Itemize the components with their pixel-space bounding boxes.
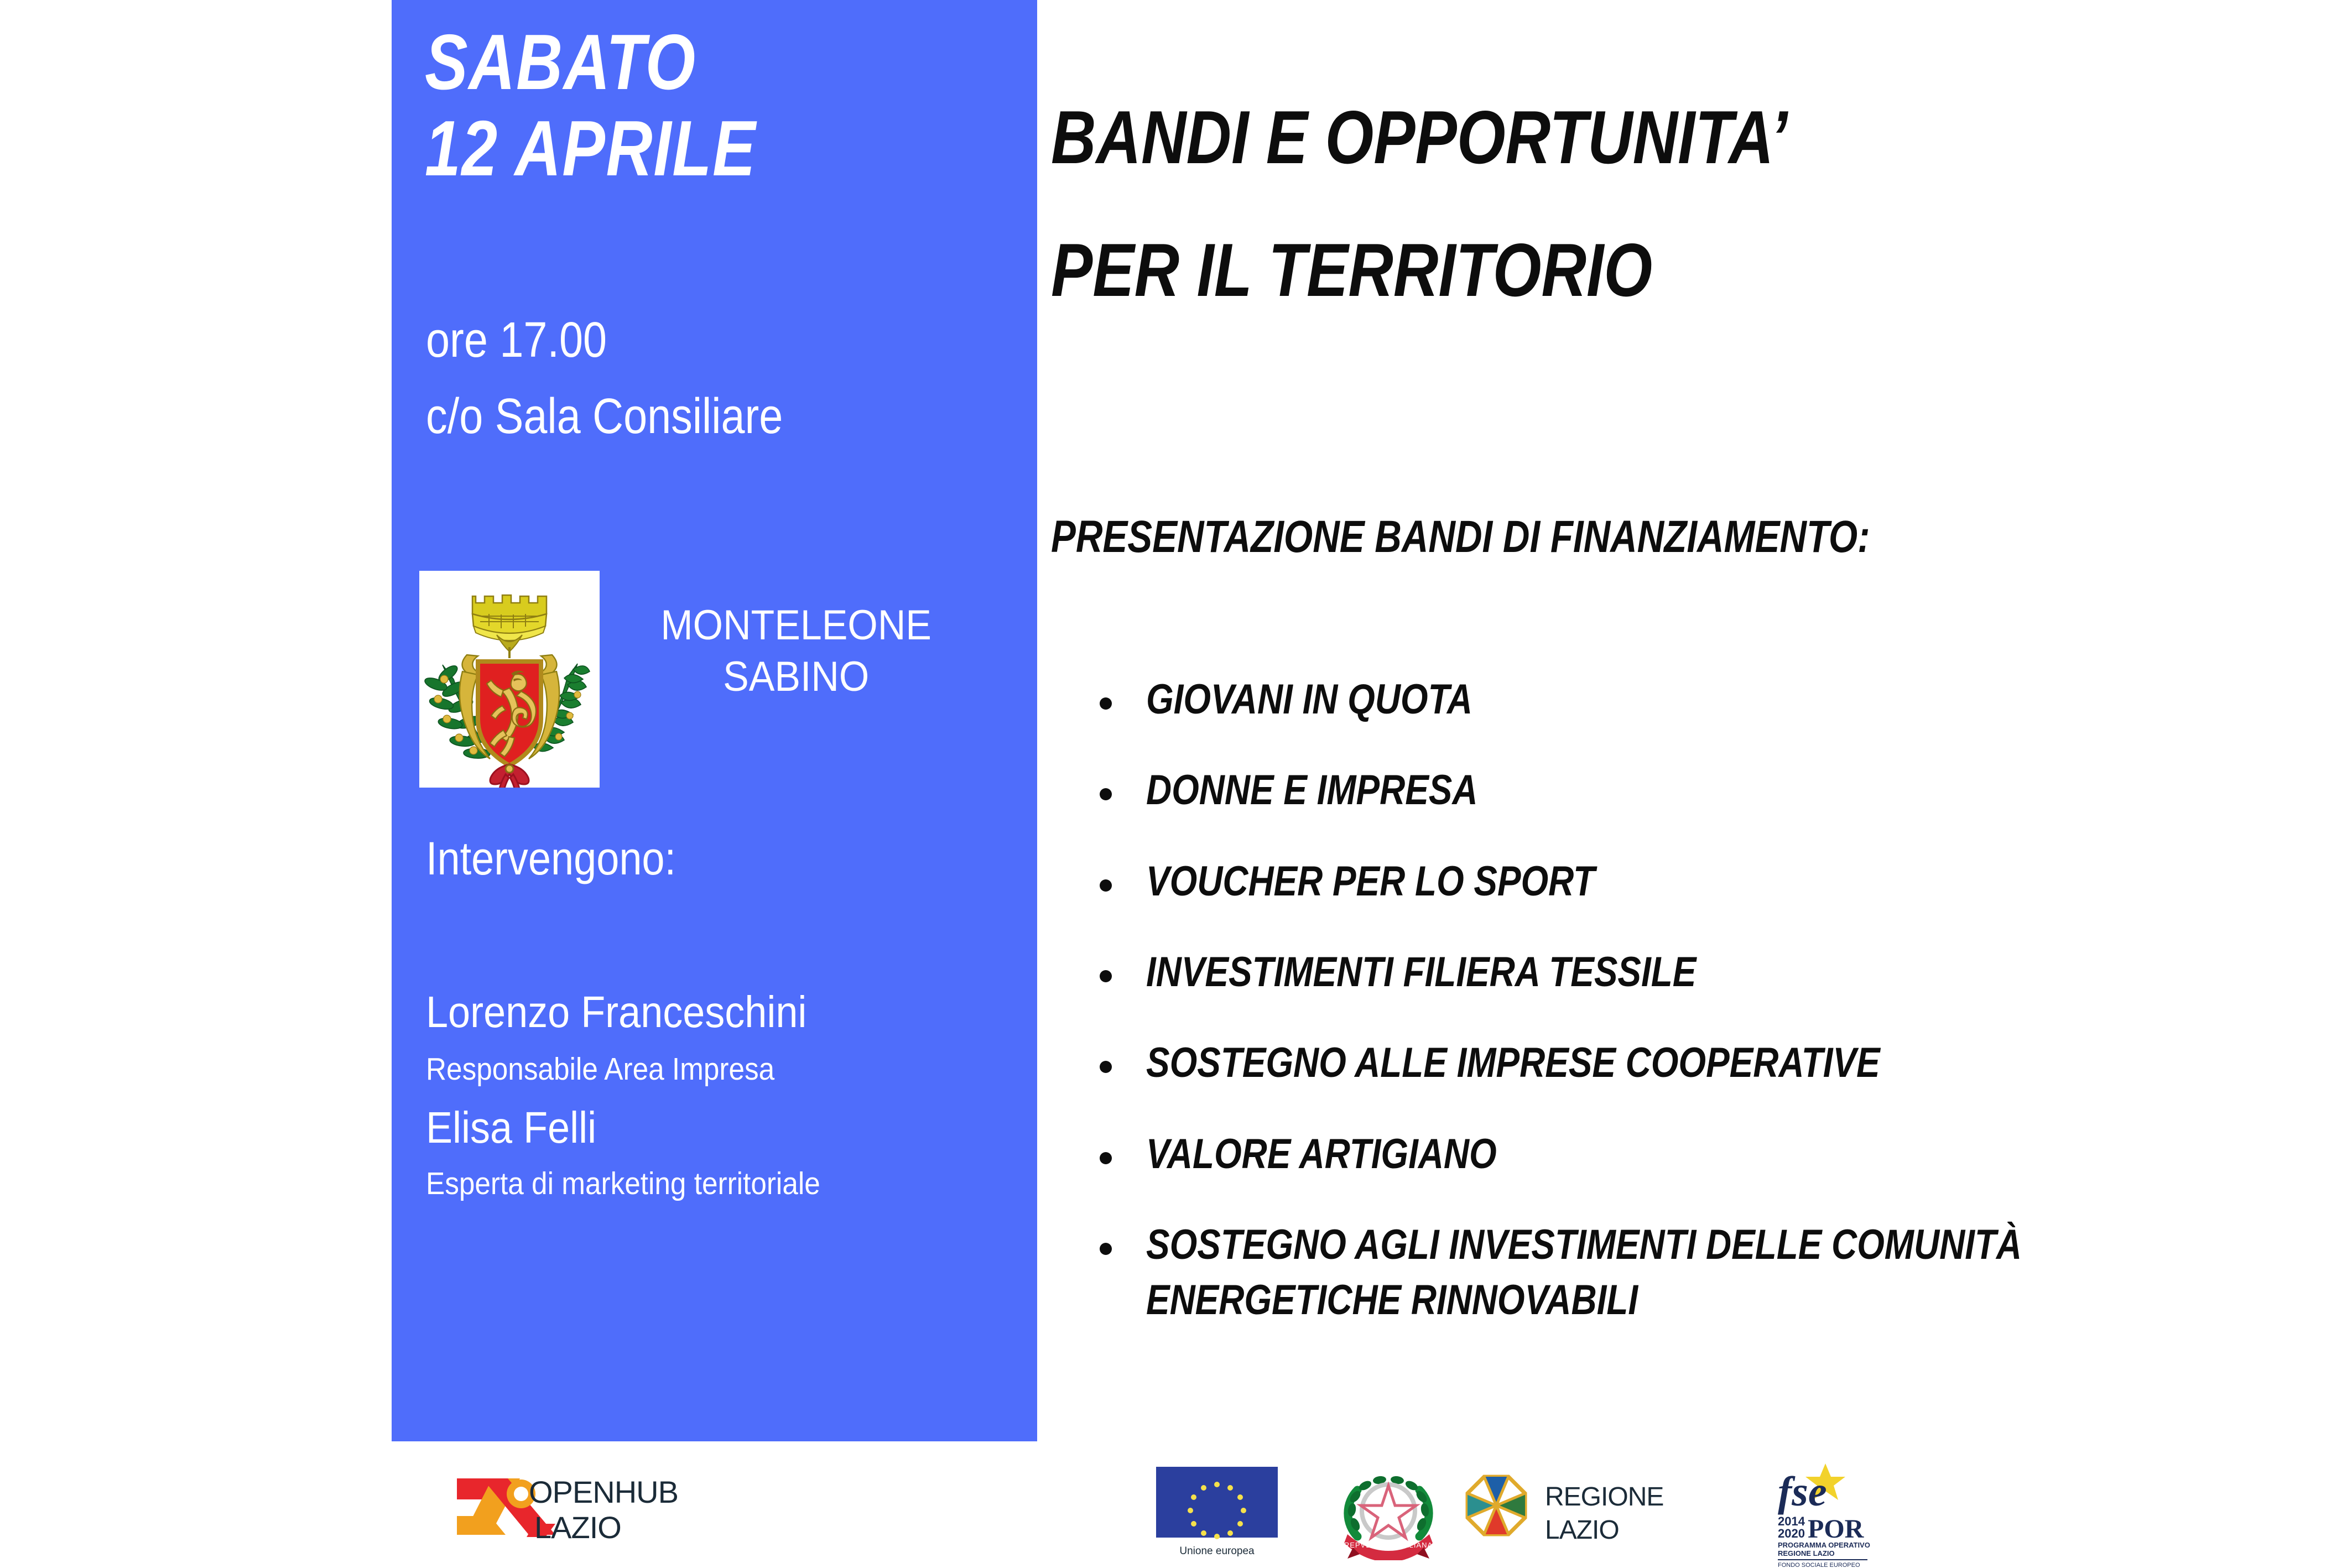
svg-text:fse: fse	[1778, 1468, 1827, 1515]
european-union-logo: Unione europea	[1156, 1467, 1278, 1561]
event-time: ore 17.00	[426, 315, 607, 365]
regione-lazio-logo-icon: REGIONE LAZIO	[1463, 1471, 1729, 1549]
svg-text:FONDO SOCIALE EUROPEO: FONDO SOCIALE EUROPEO	[1778, 1562, 1860, 1568]
town-crest	[419, 571, 600, 788]
fse-por-logo-icon: fse 2014 2020 POR PROGRAMMA OPERATIVO RE…	[1770, 1460, 1881, 1568]
openhub-lazio-logo-icon: OPENHUB LAZIO	[437, 1468, 736, 1551]
svg-text:Unione europea: Unione europea	[1179, 1545, 1255, 1557]
town-name: MONTELEONE SABINO	[613, 600, 979, 702]
speaker-role-1: Responsabile Area Impresa	[426, 1054, 774, 1085]
openhub-lazio-logo: OPENHUB LAZIO	[437, 1468, 736, 1551]
svg-text:LAZIO: LAZIO	[534, 1510, 621, 1545]
list-item-label: DONNE E IMPRESA	[1146, 763, 2070, 818]
funding-calls-list: GIOVANI IN QUOTA DONNE E IMPRESA VOUCHER…	[1084, 672, 2246, 1364]
list-item-label: VOUCHER PER LO SPORT	[1146, 854, 2070, 909]
list-item: VALORE ARTIGIANO	[1084, 1127, 2246, 1182]
list-item-label: INVESTIMENTI FILIERA TESSILE	[1146, 945, 2070, 1000]
list-item-label: SOSTEGNO ALLE IMPRESE COOPERATIVE	[1146, 1035, 2070, 1091]
list-item-label: GIOVANI IN QUOTA	[1146, 672, 2070, 727]
town-name-line-2: SABINO	[613, 652, 979, 703]
list-item: SOSTEGNO ALLE IMPRESE COOPERATIVE	[1084, 1035, 2246, 1091]
fse-por-logo: fse 2014 2020 POR PROGRAMMA OPERATIVO RE…	[1770, 1460, 1881, 1568]
poster-title-line-1: BANDI E OPPORTUNITA’	[1051, 100, 1788, 175]
svg-text:2020: 2020	[1778, 1527, 1805, 1540]
speaker-name-1: Lorenzo Franceschini	[426, 990, 806, 1034]
eu-flag-icon: Unione europea	[1156, 1467, 1278, 1561]
list-item: INVESTIMENTI FILIERA TESSILE	[1084, 945, 2246, 1000]
svg-text:REGIONE LAZIO: REGIONE LAZIO	[1778, 1549, 1835, 1557]
event-date-day-month: 12 APRILE	[425, 110, 756, 188]
speaker-role-2: Esperta di marketing territoriale	[426, 1168, 820, 1200]
section-heading: PRESENTAZIONE BANDI DI FINANZIAMENTO:	[1051, 514, 1870, 560]
poster-title-line-2: PER IL TERRITORIO	[1051, 232, 1652, 308]
town-name-line-1: MONTELEONE	[660, 602, 932, 649]
main-content: BANDI E OPPORTUNITA’ PER IL TERRITORIO P…	[1051, 0, 2296, 1568]
italian-republic-logo: REPVBBLICA ITALIANA	[1339, 1463, 1438, 1560]
event-date-weekday: SABATO	[425, 23, 696, 102]
svg-text:REGIONE: REGIONE	[1545, 1482, 1663, 1512]
svg-text:LAZIO: LAZIO	[1545, 1515, 1619, 1545]
list-item: DONNE E IMPRESA	[1084, 763, 2246, 818]
svg-text:PROGRAMMA OPERATIVO: PROGRAMMA OPERATIVO	[1778, 1541, 1870, 1549]
institutional-logos: Unione europea	[1156, 1460, 1986, 1568]
republic-ribbon-text: REPVBBLICA ITALIANA	[1344, 1541, 1433, 1549]
event-venue: c/o Sala Consiliare	[426, 392, 783, 441]
svg-text:OPENHUB: OPENHUB	[529, 1475, 678, 1509]
speaker-name-2: Elisa Felli	[426, 1106, 596, 1150]
list-item: GIOVANI IN QUOTA	[1084, 672, 2246, 727]
list-item-label: SOSTEGNO AGLI INVESTIMENTI DELLE COMUNIT…	[1146, 1217, 2070, 1329]
republic-emblem-icon: REPVBBLICA ITALIANA	[1339, 1463, 1438, 1560]
list-item: VOUCHER PER LO SPORT	[1084, 854, 2246, 909]
event-info-panel: SABATO 12 APRILE ore 17.00 c/o Sala Cons…	[392, 0, 1037, 1441]
list-item: SOSTEGNO AGLI INVESTIMENTI DELLE COMUNIT…	[1084, 1217, 2246, 1329]
coat-of-arms-icon	[419, 571, 600, 788]
speakers-heading: Intervengono:	[426, 835, 676, 882]
regione-lazio-logo: REGIONE LAZIO	[1463, 1471, 1729, 1549]
svg-text:POR: POR	[1808, 1514, 1865, 1544]
list-item-label: VALORE ARTIGIANO	[1146, 1127, 2070, 1182]
